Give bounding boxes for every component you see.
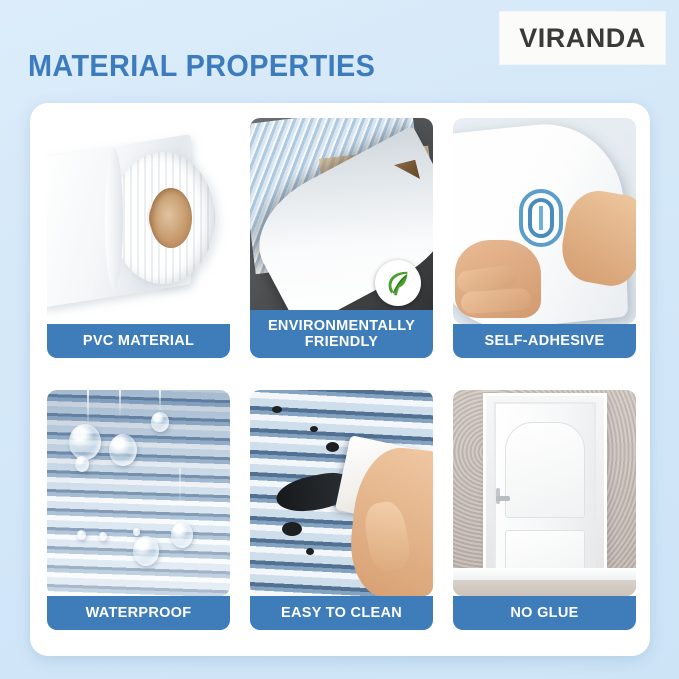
droplet-trail — [119, 390, 121, 418]
feature-label-self-adhesive: SELF-ADHESIVE — [453, 324, 636, 358]
brand-name: VIRANDA — [519, 23, 646, 54]
self-adhesive-image — [453, 118, 636, 324]
water-droplet — [171, 522, 193, 548]
feature-card-no-glue: NO GLUE — [453, 390, 636, 630]
stain-spot — [310, 426, 318, 432]
feature-grid: PVC MATERIAL — [47, 118, 633, 630]
infographic-root: VIRANDA MATERIAL PROPERTIES PVC MATERIAL — [0, 0, 679, 679]
feature-label-text: NO GLUE — [510, 605, 578, 621]
paperclip-icon — [515, 186, 569, 250]
feature-label-pvc-material: PVC MATERIAL — [47, 324, 230, 358]
door-handle — [496, 496, 510, 501]
feature-label-text: EASY TO CLEAN — [281, 605, 402, 621]
feature-label-line-1: ENVIRONMENTALLY — [268, 318, 415, 334]
eco-peeling-wallpaper-image — [250, 118, 433, 324]
waterproof-image — [47, 390, 230, 596]
eco-badge — [375, 260, 421, 306]
feature-label-text: ENVIRONMENTALLY FRIENDLY — [268, 318, 415, 350]
water-droplet — [99, 532, 107, 541]
brand-logo-box: VIRANDA — [500, 12, 665, 64]
no-glue-door-image — [453, 390, 636, 596]
feature-card-pvc-material: PVC MATERIAL — [47, 118, 230, 358]
easy-to-clean-image — [250, 390, 433, 596]
door-panel-upper — [505, 422, 585, 518]
feature-label-text: WATERPROOF — [86, 605, 192, 621]
water-droplet — [69, 424, 101, 460]
feature-card-waterproof: WATERPROOF — [47, 390, 230, 630]
leaf-icon — [383, 268, 413, 298]
feature-card-easy-to-clean: EASY TO CLEAN — [250, 390, 433, 630]
water-droplet — [151, 412, 169, 432]
pvc-roll-edge-shape — [105, 148, 123, 290]
feature-label-text: PVC MATERIAL — [83, 333, 194, 349]
water-droplet — [75, 456, 89, 472]
stain-spot — [306, 548, 314, 555]
page-title: MATERIAL PROPERTIES — [28, 48, 375, 84]
feature-card-environmentally-friendly: ENVIRONMENTALLY FRIENDLY — [250, 118, 433, 358]
stain-spot — [282, 522, 302, 536]
water-droplet — [133, 536, 159, 566]
feature-label-text: SELF-ADHESIVE — [485, 333, 605, 349]
droplet-trail — [159, 390, 161, 412]
pvc-cardboard-core-shape — [150, 188, 192, 248]
feature-label-waterproof: WATERPROOF — [47, 596, 230, 630]
water-droplet — [133, 528, 140, 536]
pvc-roll-image — [47, 118, 230, 324]
feature-label-easy-to-clean: EASY TO CLEAN — [250, 596, 433, 630]
floor-shape — [453, 580, 636, 596]
feature-card-self-adhesive: SELF-ADHESIVE — [453, 118, 636, 358]
water-droplet — [109, 434, 137, 466]
water-droplet — [77, 530, 86, 540]
stain-spot — [272, 406, 282, 413]
stain-spot — [326, 442, 339, 452]
feature-label-no-glue: NO GLUE — [453, 596, 636, 630]
droplet-trail — [179, 468, 181, 512]
feature-label-line-2: FRIENDLY — [305, 334, 379, 350]
feature-label-environmentally-friendly: ENVIRONMENTALLY FRIENDLY — [250, 310, 433, 358]
